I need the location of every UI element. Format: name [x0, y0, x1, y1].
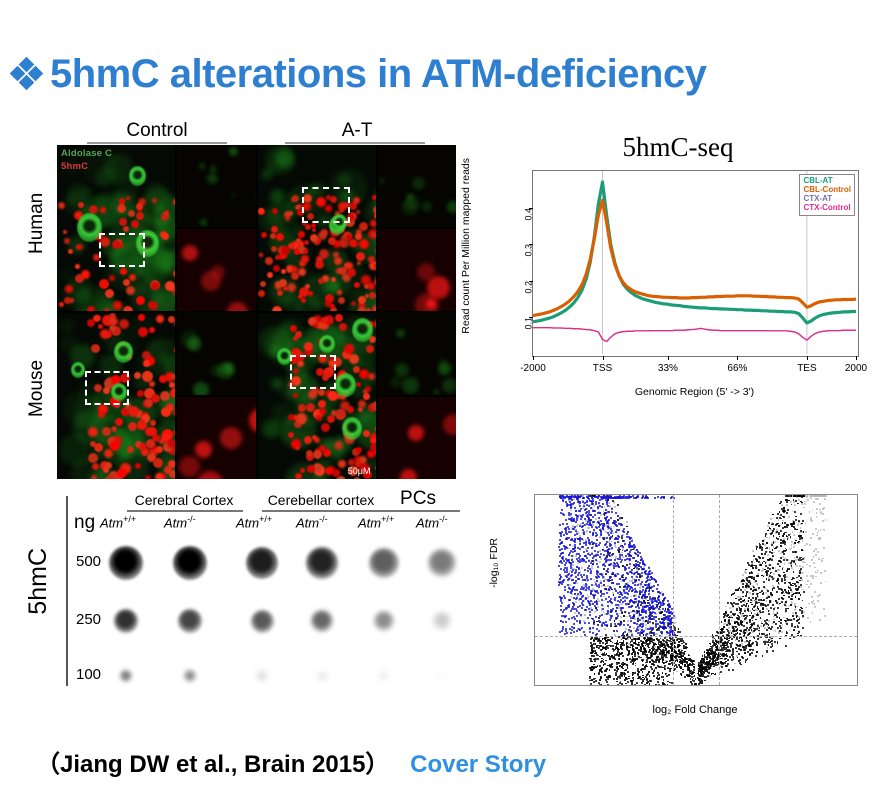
- volcano-point: [795, 519, 797, 521]
- volcano-point: [641, 572, 643, 574]
- volcano-point: [655, 667, 657, 669]
- volcano-point: [622, 597, 624, 599]
- volcano-point: [576, 615, 578, 617]
- volcano-point: [573, 627, 575, 629]
- volcano-point: [755, 580, 757, 582]
- volcano-point: [800, 527, 802, 529]
- volcano-point: [772, 567, 774, 569]
- volcano-point: [605, 543, 607, 545]
- volcano-point: [623, 540, 625, 542]
- volcano-point: [812, 577, 814, 579]
- blot-genotype-label: Atm+/+: [100, 514, 136, 530]
- volcano-point: [701, 682, 703, 684]
- volcano-point: [806, 495, 808, 497]
- volcano-point: [771, 552, 773, 554]
- volcano-point: [766, 537, 768, 539]
- volcano-point: [667, 632, 669, 634]
- volcano-point: [756, 575, 758, 577]
- volcano-point: [735, 647, 737, 649]
- volcano-point: [755, 589, 757, 591]
- volcano-point: [604, 506, 606, 508]
- blot-genotype-label: Atm-/-: [296, 514, 328, 530]
- volcano-point: [597, 592, 599, 594]
- volcano-point: [755, 597, 757, 599]
- volcano-point: [611, 602, 613, 604]
- volcano-point: [772, 645, 774, 647]
- volcano-point: [816, 572, 818, 574]
- volcano-point: [573, 603, 575, 605]
- volcano-point: [786, 576, 788, 578]
- volcano-point: [652, 622, 654, 624]
- volcano-point: [753, 610, 755, 612]
- volcano-point: [603, 596, 605, 598]
- volcano-point: [599, 556, 601, 558]
- volcano-point: [824, 495, 826, 497]
- volcano-point: [745, 595, 747, 597]
- metagene-y-tick: 0.2: [524, 281, 534, 294]
- volcano-point: [579, 505, 581, 507]
- volcano-point: [749, 653, 751, 655]
- volcano-point: [589, 680, 591, 682]
- volcano-point: [814, 495, 816, 497]
- volcano-point: [604, 663, 606, 665]
- volcano-point: [763, 599, 765, 601]
- volcano-point: [581, 607, 583, 609]
- volcano-point: [720, 658, 722, 660]
- volcano-point: [755, 655, 757, 657]
- volcano-point: [777, 627, 779, 629]
- volcano-point: [611, 511, 613, 513]
- blot-dot: [380, 672, 389, 681]
- volcano-point: [599, 561, 601, 563]
- volcano-point: [599, 679, 601, 681]
- volcano-point: [571, 589, 573, 591]
- volcano-point: [748, 629, 750, 631]
- volcano-point: [731, 638, 733, 640]
- volcano-plot-panel: -log₁₀ FDR 012345-6-4-20246 log₂ Fold Ch…: [472, 488, 884, 720]
- micro-field-mouse-control: [57, 313, 175, 479]
- volcano-point: [729, 656, 731, 658]
- volcano-point: [819, 594, 821, 596]
- micro-cell-mouse-at: 50μM: [258, 313, 457, 479]
- volcano-point: [600, 649, 602, 651]
- volcano-point: [752, 597, 754, 599]
- volcano-point: [602, 503, 604, 505]
- volcano-point: [778, 525, 780, 527]
- volcano-point: [769, 537, 771, 539]
- volcano-point: [796, 606, 798, 608]
- volcano-point: [560, 620, 562, 622]
- blot-dot: [369, 548, 399, 578]
- volcano-point: [650, 652, 652, 654]
- volcano-point: [792, 531, 794, 533]
- volcano-point: [754, 637, 756, 639]
- volcano-point: [778, 550, 780, 552]
- volcano-point: [589, 554, 591, 556]
- volcano-point: [657, 496, 659, 498]
- volcano-point: [751, 572, 753, 574]
- volcano-point: [705, 668, 707, 670]
- dot-blot-unit-header: ng: [74, 512, 95, 534]
- volcano-point: [628, 603, 630, 605]
- volcano-point: [810, 575, 812, 577]
- volcano-point: [793, 629, 795, 631]
- volcano-point: [601, 604, 603, 606]
- micro-insets-mouse-control: [177, 313, 256, 479]
- volcano-point: [822, 513, 824, 515]
- volcano-point: [803, 495, 805, 497]
- volcano-point: [618, 654, 620, 656]
- volcano-point: [641, 597, 643, 599]
- volcano-point: [751, 624, 753, 626]
- volcano-point: [645, 650, 647, 652]
- volcano-point: [820, 572, 822, 574]
- volcano-point: [626, 664, 628, 666]
- volcano-point: [589, 627, 591, 629]
- volcano-point: [744, 649, 746, 651]
- volcano-point: [611, 579, 613, 581]
- volcano-point: [685, 643, 687, 645]
- volcano-point: [596, 603, 598, 605]
- volcano-point: [731, 617, 733, 619]
- volcano-point: [626, 564, 628, 566]
- volcano-point: [798, 520, 800, 522]
- volcano-point: [823, 547, 825, 549]
- volcano-point: [802, 617, 804, 619]
- volcano-point: [778, 598, 780, 600]
- volcano-point: [791, 541, 793, 543]
- volcano-point: [667, 657, 669, 659]
- volcano-point: [785, 601, 787, 603]
- volcano-point: [600, 582, 602, 584]
- volcano-point: [579, 501, 581, 503]
- volcano-point: [589, 614, 591, 616]
- volcano-point: [815, 548, 817, 550]
- volcano-point: [649, 632, 651, 634]
- volcano-point: [746, 622, 748, 624]
- volcano-point: [667, 684, 669, 686]
- volcano-point: [656, 605, 658, 607]
- volcano-point: [769, 547, 771, 549]
- volcano-point: [816, 508, 818, 510]
- volcano-point: [796, 529, 798, 531]
- volcano-point: [609, 658, 611, 660]
- volcano-point: [634, 655, 636, 657]
- volcano-point: [626, 521, 628, 523]
- volcano-point: [748, 564, 750, 566]
- metagene-x-tick: TES: [797, 363, 816, 374]
- micro-inset-red: [177, 229, 256, 311]
- volcano-point: [779, 536, 781, 538]
- volcano-point: [790, 604, 792, 606]
- volcano-point: [583, 533, 585, 535]
- channel-label-aldolase: Aldolase C: [61, 148, 112, 159]
- volcano-point: [769, 600, 771, 602]
- volcano-point: [790, 584, 792, 586]
- volcano-point: [793, 571, 795, 573]
- volcano-point: [791, 525, 793, 527]
- volcano-point: [786, 512, 788, 514]
- volcano-point: [645, 581, 647, 583]
- volcano-point: [608, 511, 610, 513]
- diamond-cluster-icon: [10, 57, 44, 91]
- metagene-x-tick-mark: [737, 356, 738, 360]
- volcano-point: [776, 531, 778, 533]
- volcano-point: [582, 600, 584, 602]
- volcano-point: [707, 675, 709, 677]
- volcano-point: [794, 626, 796, 628]
- volcano-point: [758, 587, 760, 589]
- volcano-point: [666, 636, 668, 638]
- volcano-point: [787, 568, 789, 570]
- volcano-point: [813, 501, 815, 503]
- volcano-point: [602, 608, 604, 610]
- metagene-x-tick-mark: [533, 356, 534, 360]
- volcano-point: [740, 664, 742, 666]
- volcano-point: [601, 593, 603, 595]
- volcano-point: [720, 649, 722, 651]
- volcano-point: [603, 580, 605, 582]
- volcano-point: [763, 586, 765, 588]
- volcano-point: [732, 627, 734, 629]
- volcano-point: [758, 561, 760, 563]
- volcano-point: [794, 583, 796, 585]
- volcano-point: [588, 517, 590, 519]
- volcano-point: [732, 613, 734, 615]
- volcano-point: [560, 512, 562, 514]
- volcano-point: [780, 619, 782, 621]
- volcano-point: [613, 630, 615, 632]
- volcano-point: [642, 668, 644, 670]
- volcano-point: [752, 649, 754, 651]
- volcano-point: [793, 578, 795, 580]
- volcano-point: [636, 576, 638, 578]
- volcano-point: [791, 579, 793, 581]
- volcano-point: [693, 669, 695, 671]
- volcano-point: [797, 626, 799, 628]
- volcano-point: [592, 651, 594, 653]
- volcano-point: [593, 655, 595, 657]
- volcano-point: [723, 631, 725, 633]
- volcano-point: [563, 534, 565, 536]
- volcano-point: [704, 680, 706, 682]
- volcano-point: [593, 529, 595, 531]
- volcano-point: [695, 678, 697, 680]
- volcano-point: [642, 645, 644, 647]
- volcano-point: [595, 501, 597, 503]
- metagene-y-axis-label: Read count Per Million mapped reads: [460, 158, 474, 334]
- volcano-point: [762, 540, 764, 542]
- volcano-point: [560, 535, 562, 537]
- micro-column-header-at: A-T: [257, 120, 457, 142]
- volcano-point: [732, 648, 734, 650]
- volcano-point: [560, 560, 562, 562]
- volcano-point: [653, 639, 655, 641]
- volcano-point: [621, 603, 623, 605]
- volcano-point: [635, 640, 637, 642]
- volcano-point: [617, 519, 619, 521]
- volcano-point: [595, 545, 597, 547]
- volcano-point: [658, 608, 660, 610]
- volcano-point: [622, 530, 624, 532]
- volcano-point: [594, 673, 596, 675]
- volcano-point: [593, 623, 595, 625]
- volcano-point: [747, 585, 749, 587]
- volcano-point: [756, 614, 758, 616]
- volcano-point: [651, 618, 653, 620]
- volcano-point: [815, 576, 817, 578]
- volcano-point: [625, 555, 627, 557]
- volcano-point: [775, 614, 777, 616]
- volcano-plot-area: 012345-6-4-20246: [534, 494, 858, 686]
- volcano-point: [768, 613, 770, 615]
- metagene-y-tick: 0.4: [524, 208, 534, 221]
- blot-group-rule-2: [262, 510, 380, 512]
- volcano-point: [629, 626, 631, 628]
- volcano-point: [631, 576, 633, 578]
- volcano-point: [689, 667, 691, 669]
- volcano-point: [769, 603, 771, 605]
- volcano-point: [782, 520, 784, 522]
- volcano-point: [732, 669, 734, 671]
- volcano-point: [770, 518, 772, 520]
- volcano-point: [782, 568, 784, 570]
- volcano-point: [760, 564, 762, 566]
- volcano-point: [606, 681, 608, 683]
- volcano-point: [658, 659, 660, 661]
- volcano-point: [669, 630, 671, 632]
- volcano-point: [653, 644, 655, 646]
- volcano-point: [816, 516, 818, 518]
- volcano-point: [660, 631, 662, 633]
- blot-dot: [433, 612, 451, 630]
- volcano-point: [587, 527, 589, 529]
- volcano-point: [638, 676, 640, 678]
- volcano-point: [732, 593, 734, 595]
- blot-dot: [246, 547, 279, 580]
- volcano-point: [568, 537, 570, 539]
- volcano-point: [777, 607, 779, 609]
- volcano-point: [759, 610, 761, 612]
- volcano-point: [637, 678, 639, 680]
- volcano-point: [638, 579, 640, 581]
- volcano-point: [748, 605, 750, 607]
- volcano-point: [655, 684, 657, 686]
- volcano-point: [773, 573, 775, 575]
- micro-cell-mouse-control: [57, 313, 256, 479]
- volcano-point: [753, 555, 755, 557]
- volcano-point: [635, 618, 637, 620]
- volcano-point: [656, 601, 658, 603]
- volcano-point: [582, 529, 584, 531]
- volcano-point: [662, 676, 664, 678]
- volcano-point: [576, 620, 578, 622]
- volcano-point: [756, 548, 758, 550]
- volcano-point: [755, 565, 757, 567]
- volcano-point: [649, 642, 651, 644]
- volcano-point: [724, 642, 726, 644]
- volcano-point: [802, 627, 804, 629]
- volcano-point: [772, 530, 774, 532]
- volcano-point: [619, 586, 621, 588]
- dot-blot-row-axis-label: 5hmC: [24, 548, 53, 615]
- volcano-point: [793, 534, 795, 536]
- volcano-point: [586, 500, 588, 502]
- volcano-point: [592, 557, 594, 559]
- volcano-point: [783, 533, 785, 535]
- volcano-point: [780, 514, 782, 516]
- volcano-point: [650, 666, 652, 668]
- volcano-point: [596, 628, 598, 630]
- volcano-point: [727, 602, 729, 604]
- volcano-point: [809, 544, 811, 546]
- micro-cell-human-control: Aldolase C 5hmC: [57, 145, 256, 311]
- volcano-point: [749, 646, 751, 648]
- volcano-point: [745, 585, 747, 587]
- metagene-y-tick-mark: [529, 208, 533, 209]
- volcano-point: [813, 562, 815, 564]
- volcano-point: [617, 668, 619, 670]
- volcano-point: [613, 567, 615, 569]
- volcano-point: [626, 588, 628, 590]
- volcano-point: [627, 654, 629, 656]
- volcano-point: [783, 559, 785, 561]
- volcano-point: [813, 556, 815, 558]
- volcano-point: [616, 681, 618, 683]
- volcano-point: [618, 662, 620, 664]
- volcano-point: [681, 674, 683, 676]
- volcano-point: [792, 585, 794, 587]
- volcano-point: [591, 567, 593, 569]
- volcano-point: [560, 568, 562, 570]
- volcano-point: [616, 583, 618, 585]
- volcano-point: [770, 628, 772, 630]
- volcano-point: [814, 606, 816, 608]
- volcano-point: [752, 567, 754, 569]
- volcano-point: [661, 654, 663, 656]
- volcano-point: [579, 555, 581, 557]
- volcano-point: [793, 546, 795, 548]
- volcano-point: [661, 622, 663, 624]
- metagene-x-axis-label: Genomic Region (5' -> 3'): [532, 386, 857, 398]
- volcano-point: [640, 614, 642, 616]
- volcano-point: [593, 597, 595, 599]
- volcano-point: [749, 632, 751, 634]
- volcano-point: [633, 616, 635, 618]
- volcano-point: [767, 554, 769, 556]
- volcano-point: [658, 678, 660, 680]
- volcano-point: [803, 550, 805, 552]
- volcano-point: [746, 593, 748, 595]
- volcano-point: [709, 675, 711, 677]
- volcano-point: [593, 579, 595, 581]
- volcano-point: [590, 652, 592, 654]
- volcano-point: [777, 612, 779, 614]
- volcano-point: [694, 675, 696, 677]
- volcano-point: [742, 583, 744, 585]
- volcano-point: [595, 526, 597, 528]
- volcano-point: [807, 499, 809, 501]
- volcano-point: [760, 617, 762, 619]
- volcano-point: [625, 603, 627, 605]
- volcano-point: [716, 648, 718, 650]
- blot-dot-grid: [66, 532, 462, 688]
- volcano-point: [576, 582, 578, 584]
- volcano-point: [655, 661, 657, 663]
- volcano-point: [795, 542, 797, 544]
- volcano-point: [824, 570, 826, 572]
- volcano-point: [680, 640, 682, 642]
